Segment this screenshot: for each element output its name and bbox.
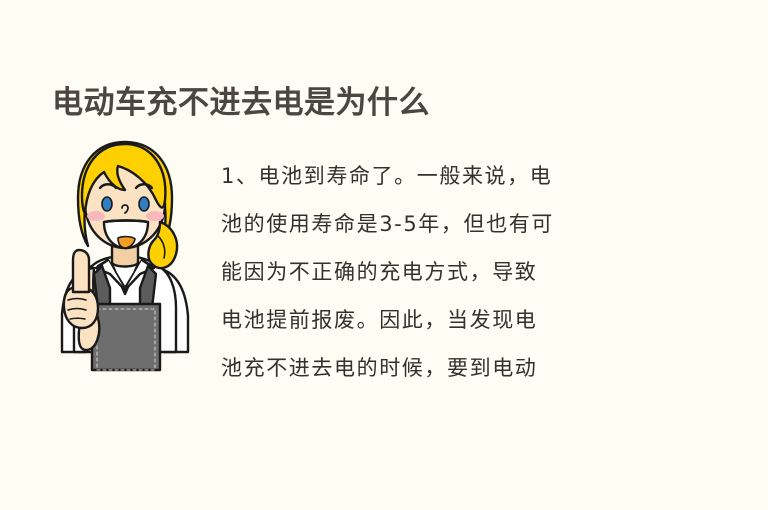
girl-illustration-svg: [52, 138, 198, 372]
body-line: 电池提前报废。因此，当发现电: [221, 296, 645, 344]
body-line: 能因为不正确的充电方式，导致: [221, 248, 645, 296]
smiling-girl-pointing-up-illustration: [52, 138, 198, 372]
body-line: 池充不进去电的时候，要到电动: [221, 344, 645, 392]
eye-left: [102, 197, 112, 211]
cheek-left: [87, 211, 105, 221]
article-body: 1、电池到寿命了。一般来说，电 池的使用寿命是3-5年，但也有可 能因为不正确的…: [221, 152, 645, 392]
apron-body: [92, 304, 160, 370]
cheek-right: [146, 211, 164, 221]
eye-right: [139, 197, 149, 211]
article-card: 电动车充不进去电是为什么: [0, 0, 768, 510]
finger-crease-3: [70, 318, 85, 319]
body-line: 池的使用寿命是3-5年，但也有可: [221, 200, 645, 248]
index-finger: [73, 250, 89, 292]
body-line: 1、电池到寿命了。一般来说，电: [221, 152, 645, 200]
page-title: 电动车充不进去电是为什么: [52, 83, 430, 123]
